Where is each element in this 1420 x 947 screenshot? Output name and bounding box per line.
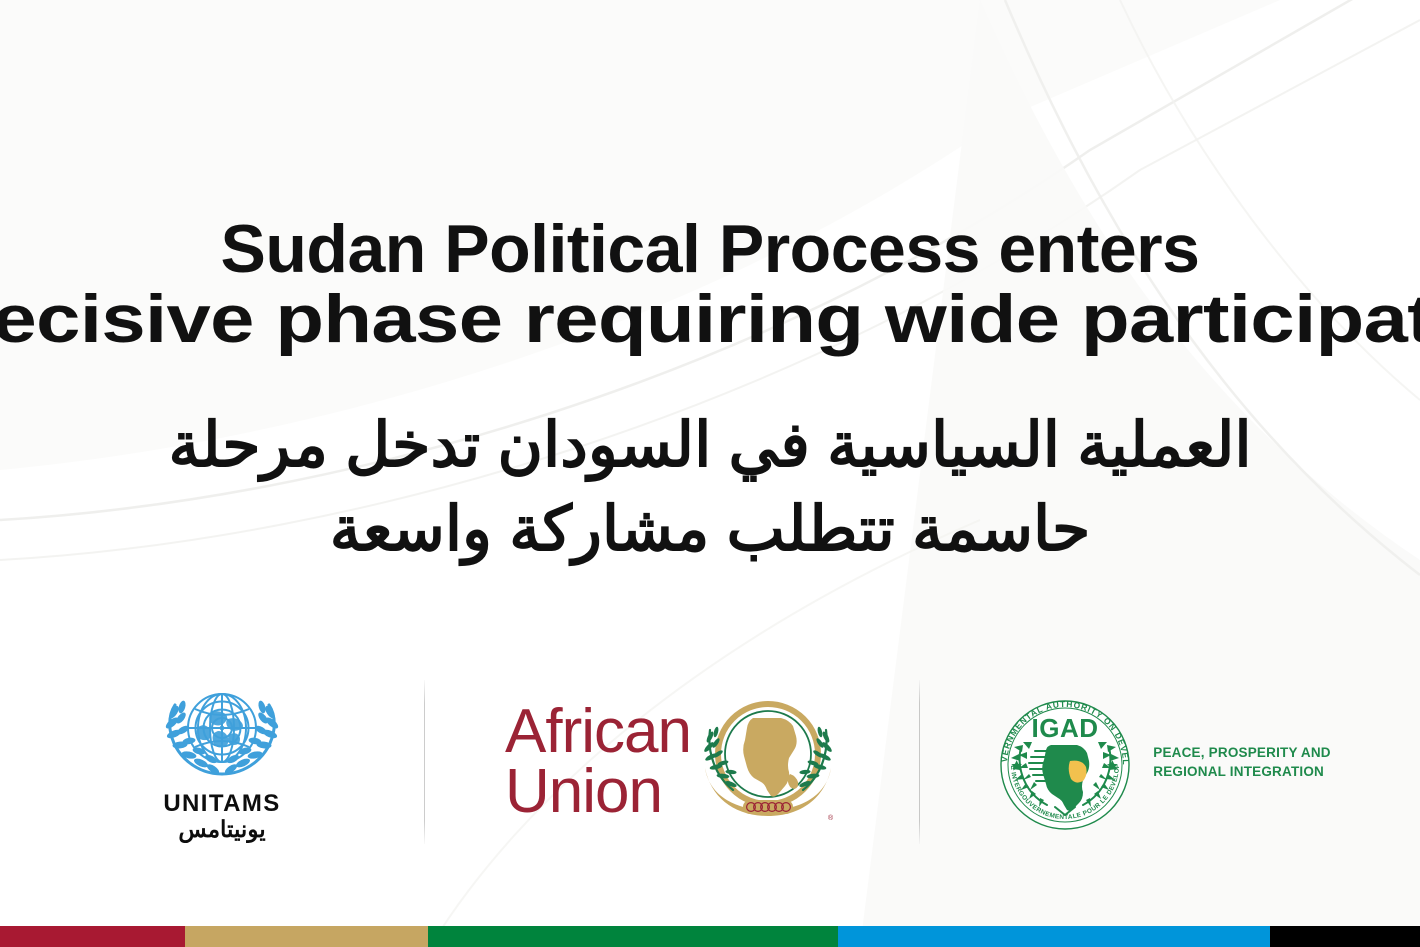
igad-seal-icon: INTERGOVERNMENTAL AUTHORITY ON DEVELOPME… [989,689,1141,835]
headline-line-2: a decisive phase requiring wide particip… [0,284,1420,354]
headline-line-1: Sudan Political Process enters [0,214,1420,284]
logo-igad: INTERGOVERNMENTAL AUTHORITY ON DEVELOPME… [920,662,1400,862]
african-union-emblem-icon: ® [697,694,839,830]
igad-tagline: PEACE, PROSPERITY AND REGIONAL INTEGRATI… [1153,743,1331,781]
svg-text:®: ® [828,814,834,822]
color-segment-green [428,926,838,947]
color-segment-red [0,926,185,947]
color-segment-blue [838,926,1270,947]
logo-strip: UNITAMS يونيتامس African Union [0,662,1420,862]
un-emblem-icon [158,681,286,785]
igad-acronym: IGAD [1032,713,1099,743]
au-word-african: African [505,702,691,762]
au-word-union: Union [505,762,691,822]
headline-english: Sudan Political Process enters a decisiv… [0,214,1420,354]
headline-arabic-line-2: حاسمة تتطلب مشاركة واسعة [66,488,1354,572]
headline-arabic-line-1: العملية السياسية في السودان تدخل مرحلة [66,404,1354,488]
unitams-name-en: UNITAMS [163,790,280,818]
color-segment-gold [185,926,428,947]
poster-canvas: Sudan Political Process enters a decisiv… [0,0,1420,947]
unitams-name-ar: يونيتامس [178,816,265,843]
headline-arabic: العملية السياسية في السودان تدخل مرحلة ح… [0,404,1420,571]
igad-tagline-line-2: REGIONAL INTEGRATION [1153,762,1331,781]
color-segment-black [1270,926,1420,947]
bottom-color-bar [0,926,1420,947]
logo-unitams: UNITAMS يونيتامس [20,662,424,862]
igad-tagline-line-1: PEACE, PROSPERITY AND [1153,743,1331,762]
logo-african-union: African Union [425,662,919,862]
